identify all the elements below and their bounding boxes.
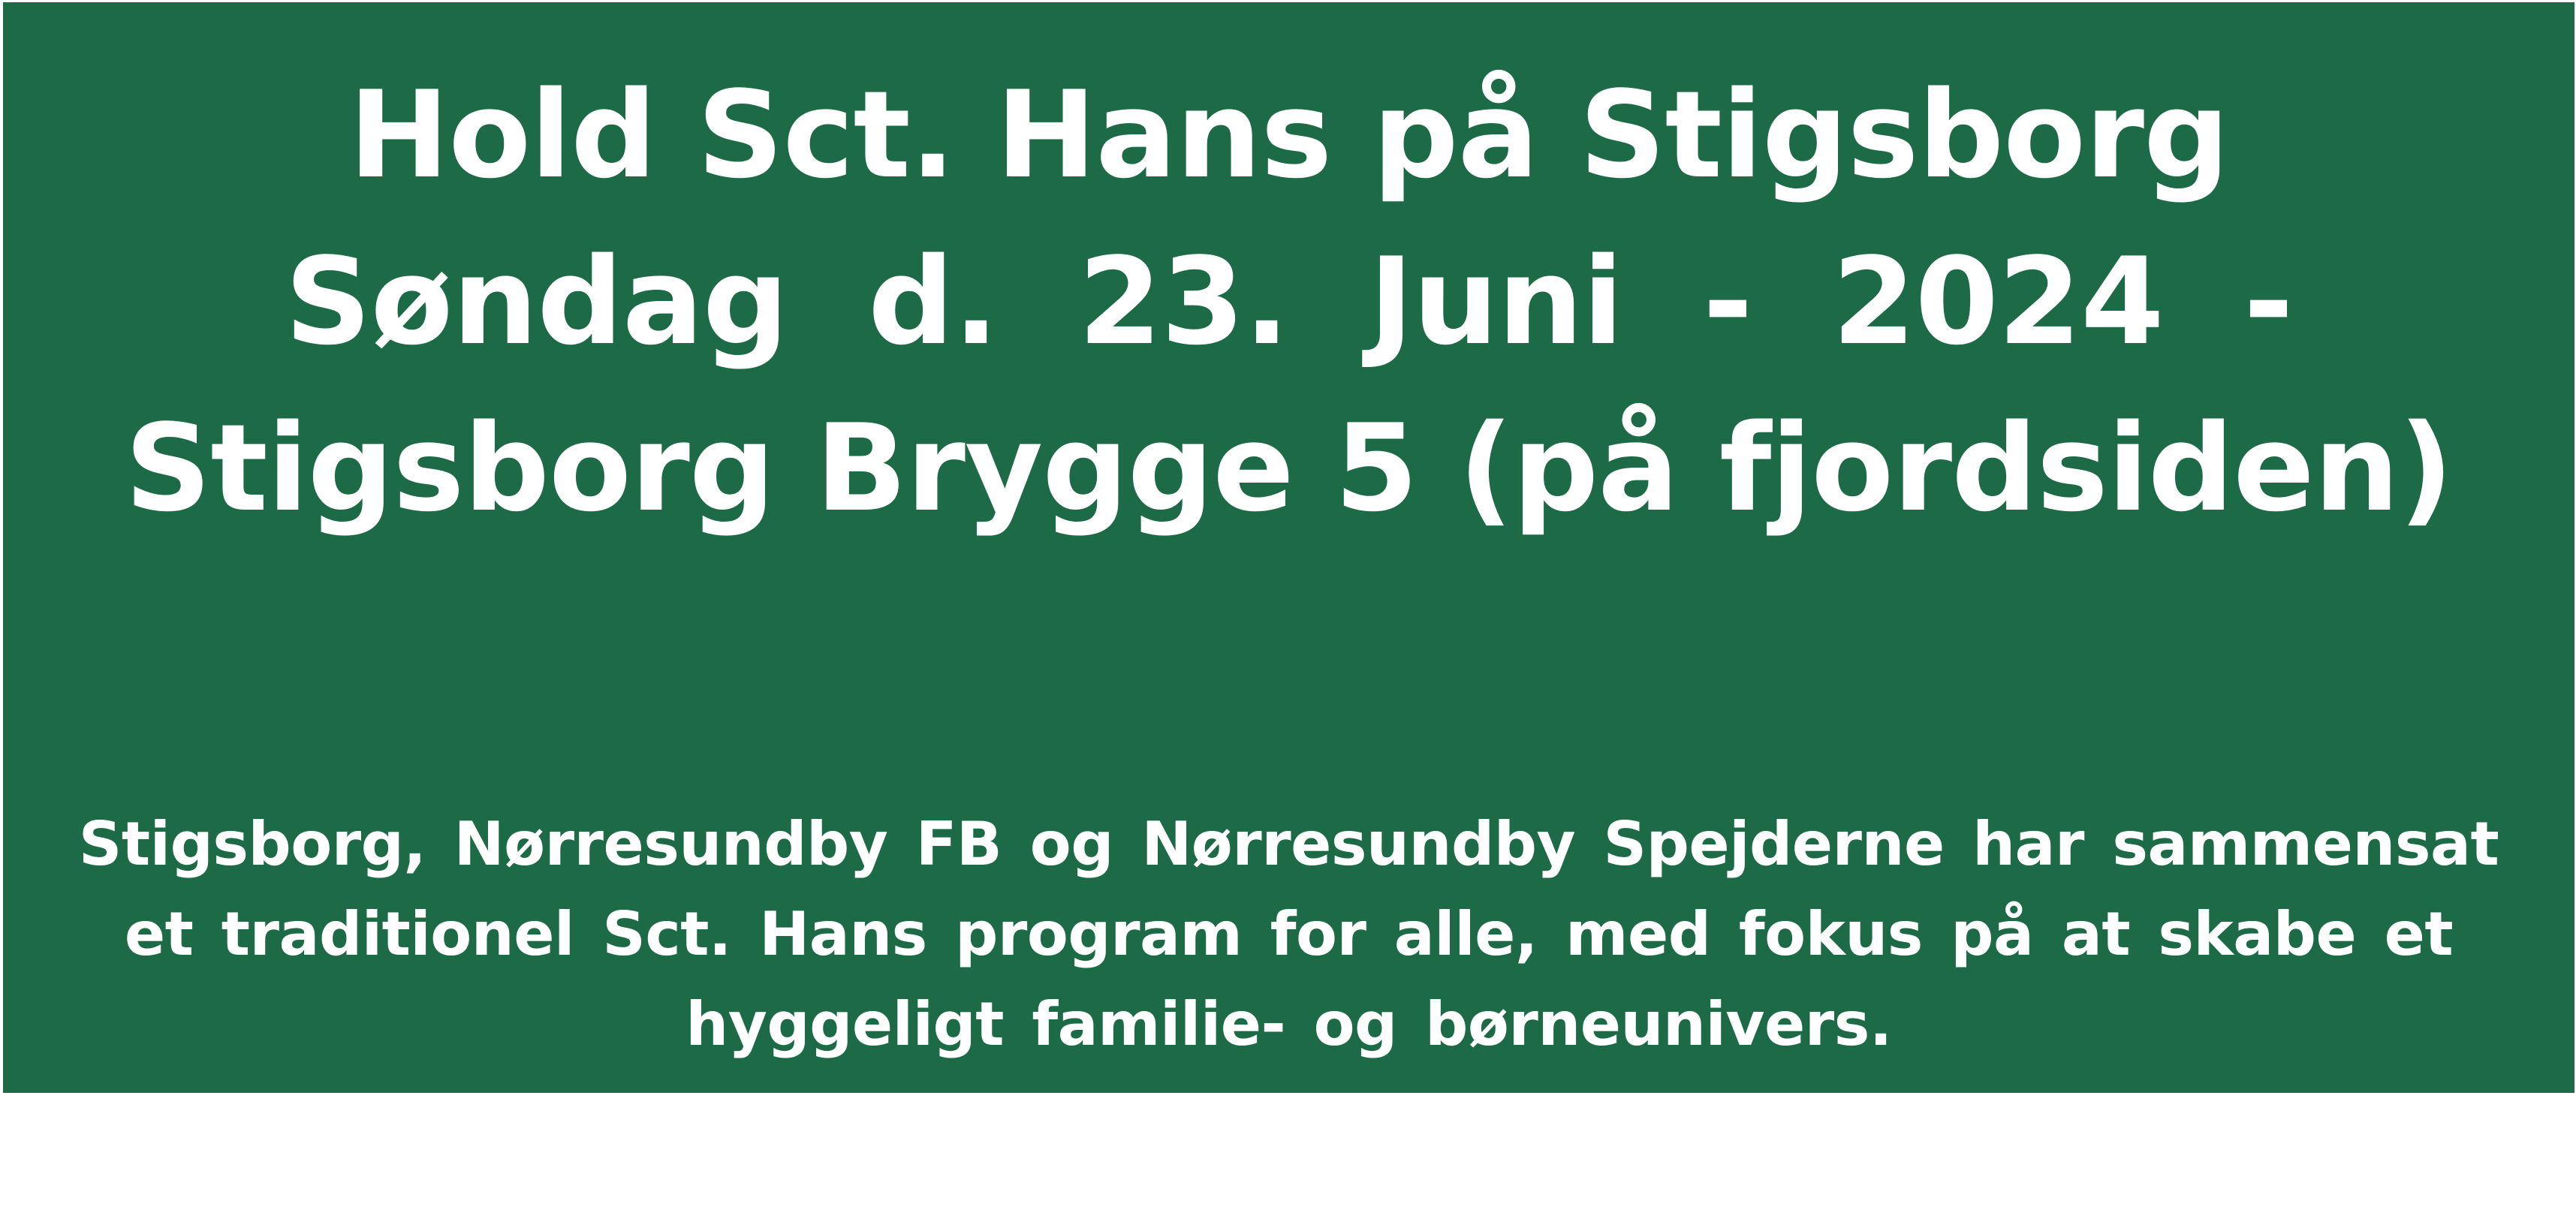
headline-line-3: Stigsborg Brygge 5 (på fjordsiden) <box>3 385 2574 552</box>
description-line-2: et traditionel Sct. Hans program for all… <box>3 889 2574 980</box>
headline-line-1: Hold Sct. Hans på Stigsborg <box>3 52 2574 218</box>
headline-line-2: Søndag d. 23. Juni - 2024 - <box>3 218 2574 385</box>
page-bottom-whitespace <box>0 1093 2576 1231</box>
event-banner-panel: Hold Sct. Hans på Stigsborg Søndag d. 23… <box>3 2 2574 1093</box>
headline-block: Hold Sct. Hans på Stigsborg Søndag d. 23… <box>3 2 2574 552</box>
description-line-3: hyggeligt familie- og børneunivers. <box>3 980 2574 1070</box>
description-block: Stigsborg, Nørresundby FB og Nørresundby… <box>3 799 2574 1070</box>
description-line-1: Stigsborg, Nørresundby FB og Nørresundby… <box>3 799 2574 889</box>
